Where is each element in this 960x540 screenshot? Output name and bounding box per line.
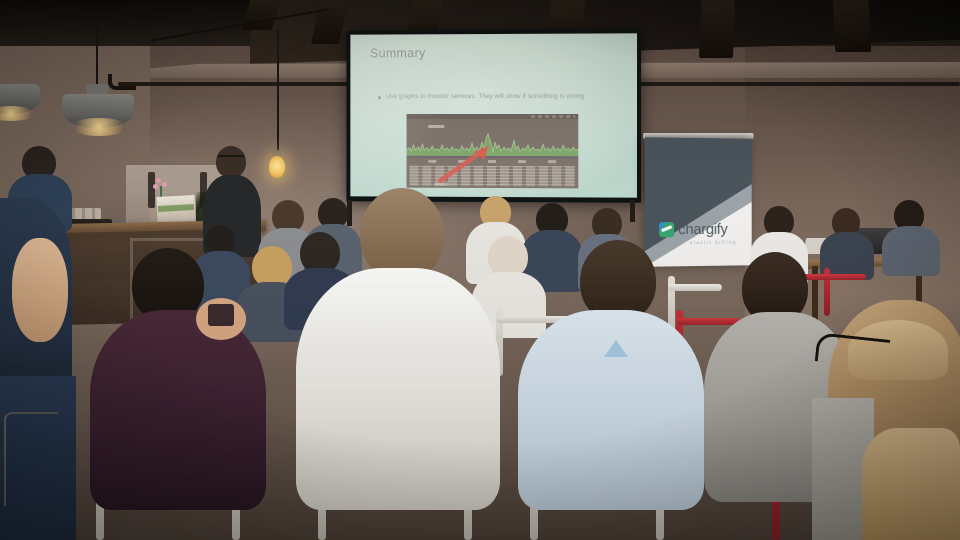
chargify-logo-mark-icon — [659, 222, 674, 237]
torso — [296, 268, 500, 510]
chair-slat — [668, 284, 722, 291]
flower-blossom — [156, 178, 161, 183]
torso — [90, 310, 266, 510]
shirt-logo-triangle-icon — [604, 340, 628, 357]
graph-axis-line — [407, 156, 579, 158]
chargify-wordmark: chargify — [678, 222, 727, 237]
bullet-dot-icon — [378, 96, 381, 99]
ceiling-beam — [833, 0, 872, 52]
graph-titlebar — [407, 114, 579, 119]
slide-title: Summary — [370, 46, 426, 60]
head — [360, 188, 444, 280]
flower-blossom — [153, 184, 158, 189]
neck — [862, 428, 960, 540]
chargify-logo: chargify — [659, 222, 727, 237]
glasses-icon — [218, 155, 244, 163]
embedded-monitoring-graph — [407, 114, 579, 188]
graph-plot-area — [407, 132, 579, 156]
pipe-hook — [108, 74, 136, 90]
slide-bullet-text: Use graphs to monitor services. They wil… — [386, 93, 584, 100]
arm — [12, 238, 68, 342]
screen-stand — [630, 200, 635, 222]
conference-talk-photo: Summary Use graphs to monitor services. … — [0, 0, 960, 540]
edison-bulb-icon — [269, 156, 285, 178]
slide-bullet-item: Use graphs to monitor services. They wil… — [378, 93, 623, 100]
graph-titlebar-controls — [531, 115, 575, 118]
chair-slat — [800, 274, 866, 280]
flower-blossom — [162, 182, 167, 187]
jeans-pocket — [4, 412, 58, 506]
lamp-cord — [96, 26, 98, 84]
graph-axis-ticks — [407, 160, 579, 163]
chargify-banner: chargify elastic billing — [645, 137, 752, 267]
chair-slat — [676, 318, 740, 325]
projection-screen: Summary Use graphs to monitor services. … — [346, 29, 641, 202]
smartphone — [208, 304, 234, 326]
bulb-cord — [277, 30, 279, 158]
torso — [882, 226, 940, 276]
graph-legend-label — [428, 125, 444, 128]
ceiling-beam — [699, 0, 735, 58]
chargify-tagline: elastic billing — [690, 240, 737, 245]
lamp-glow — [70, 118, 128, 136]
screen-surface: Summary Use graphs to monitor services. … — [350, 33, 637, 197]
graph-footer-label — [434, 183, 448, 186]
